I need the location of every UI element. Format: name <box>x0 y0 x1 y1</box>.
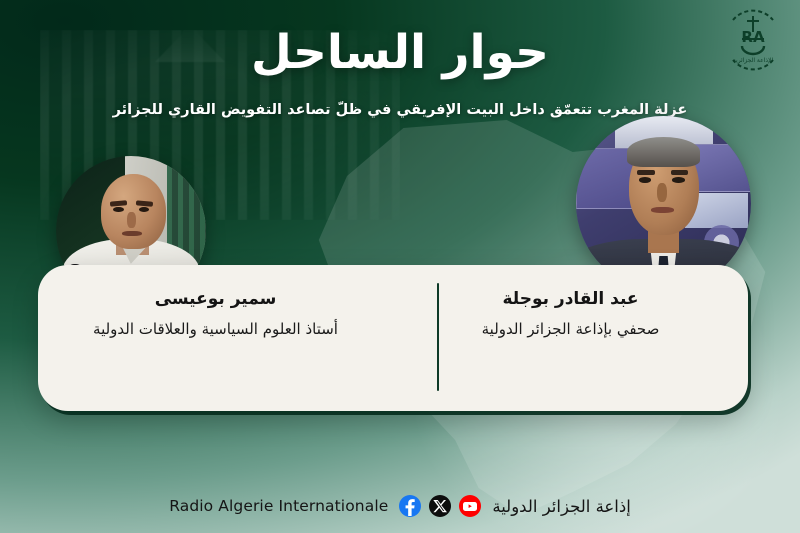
guest-role: صحفي بإذاعة الجزائر الدولية <box>482 320 660 339</box>
guest-pane-left: سمير بوعيسى أستاذ العلوم السياسية والعلا… <box>38 265 393 411</box>
x-twitter-icon[interactable] <box>429 495 451 517</box>
footer-arabic-name: إذاعة الجزائر الدولية <box>492 497 630 516</box>
footer-latin-name: Radio Algerie Internationale <box>169 497 388 515</box>
guest-name: سمير بوعيسى <box>155 289 277 309</box>
footer: Radio Algerie Internationale إذاعة الجزا… <box>0 493 800 519</box>
poster-canvas: RA الإذاعة الجزائرية حوار الساحل عزلة ال… <box>0 0 800 533</box>
social-links <box>399 495 481 517</box>
page-title: حوار الساحل <box>0 26 800 81</box>
card-divider <box>437 283 439 391</box>
guest-pane-right: عبد القادر بوجلة صحفي بإذاعة الجزائر الد… <box>393 265 748 411</box>
youtube-icon[interactable] <box>459 495 481 517</box>
facebook-icon[interactable] <box>399 495 421 517</box>
guest-name: عبد القادر بوجلة <box>502 289 638 309</box>
guests-card: عبد القادر بوجلة صحفي بإذاعة الجزائر الد… <box>38 265 748 411</box>
guest-role: أستاذ العلوم السياسية والعلاقات الدولية <box>93 320 338 339</box>
